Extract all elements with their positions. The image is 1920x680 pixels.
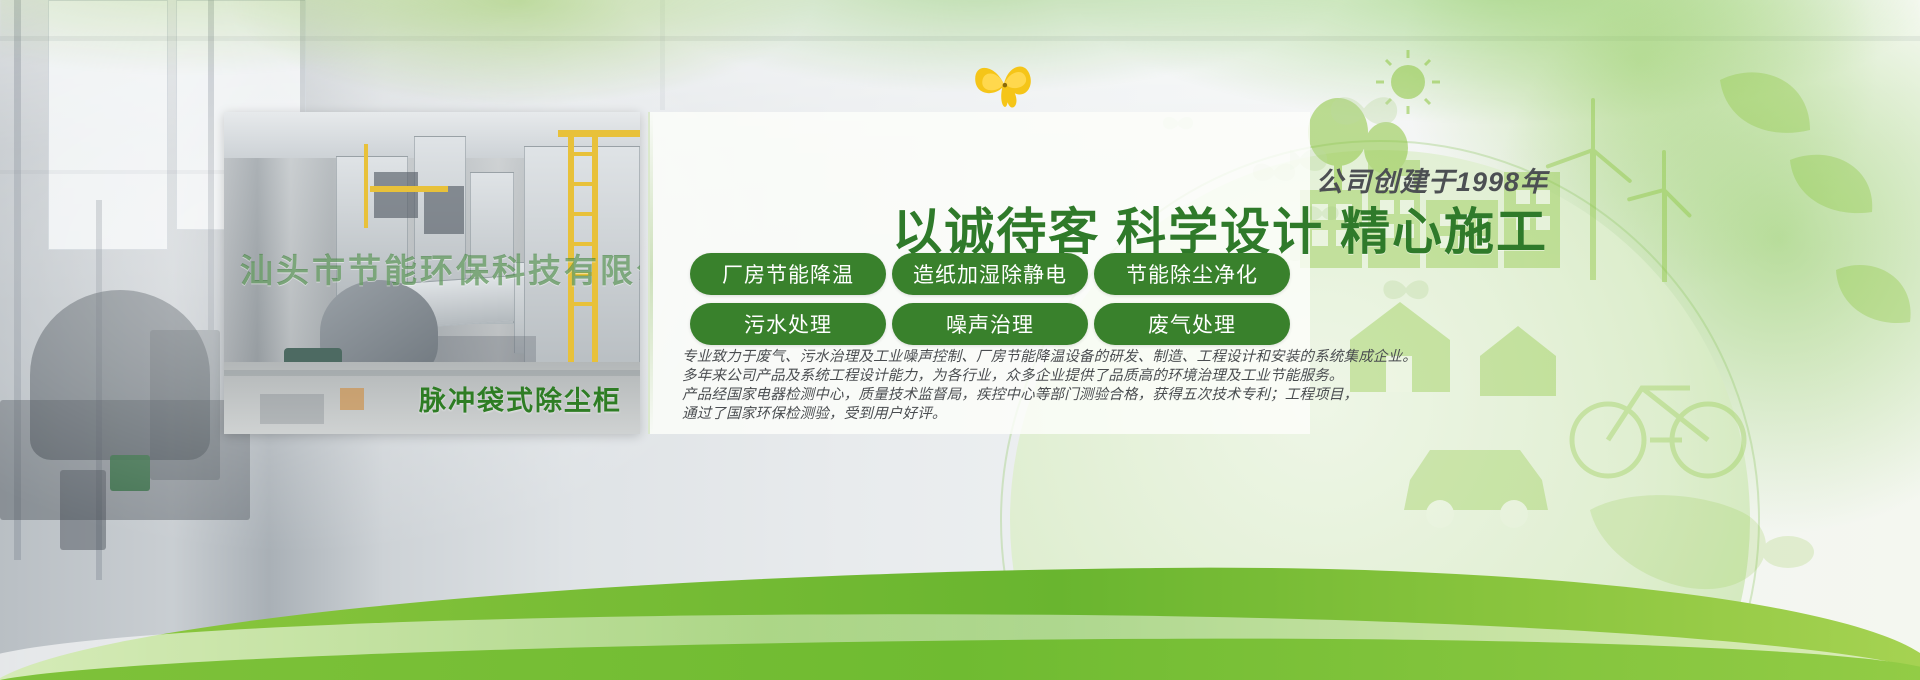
eco-silhouette-illustration: [1290, 40, 1920, 600]
map-silhouette-icon: [1590, 495, 1814, 589]
company-description: 专业致力于废气、污水治理及工业噪声控制、厂房节能降温设备的研发、制造、工程设计和…: [682, 348, 1322, 424]
description-line: 多年来公司产品及系统工程设计能力，为各行业，众多企业提供了品质高的环境治理及工业…: [682, 367, 1322, 386]
project-photo-card[interactable]: 汕头市节能环保科技有限公司 脉冲袋式除尘柜: [224, 112, 640, 434]
service-pill[interactable]: 废气处理: [1094, 303, 1290, 345]
wind-turbine-icon: [1545, 98, 1692, 282]
service-pill[interactable]: 厂房节能降温: [690, 253, 886, 295]
service-pill[interactable]: 污水处理: [690, 303, 886, 345]
service-pill-grid: 厂房节能降温 造纸加湿除静电 节能除尘净化 污水处理 噪声治理 废气处理: [690, 253, 1290, 345]
car-icon: [1404, 450, 1548, 528]
photo-caption: 脉冲袋式除尘柜: [419, 379, 622, 418]
description-line: 通过了国家环保检测验，受到用户好评。: [682, 405, 1322, 424]
service-pill[interactable]: 节能除尘净化: [1094, 253, 1290, 295]
promotional-banner: 汕头市节能环保科技有限公司 脉冲袋式除尘柜 公司创建于1998年 以诚待客 科学…: [0, 0, 1920, 680]
description-line: 专业致力于废气、污水治理及工业噪声控制、厂房节能降温设备的研发、制造、工程设计和…: [682, 348, 1322, 367]
service-pill[interactable]: 噪声治理: [892, 303, 1088, 345]
description-line: 产品经国家电器检测中心，质量技术监督局，疾控中心等部门测验合格，获得五次技术专利…: [682, 386, 1322, 405]
service-pill[interactable]: 造纸加湿除静电: [892, 253, 1088, 295]
bicycle-icon: [1572, 388, 1744, 476]
leaf-icon: [1720, 72, 1911, 323]
